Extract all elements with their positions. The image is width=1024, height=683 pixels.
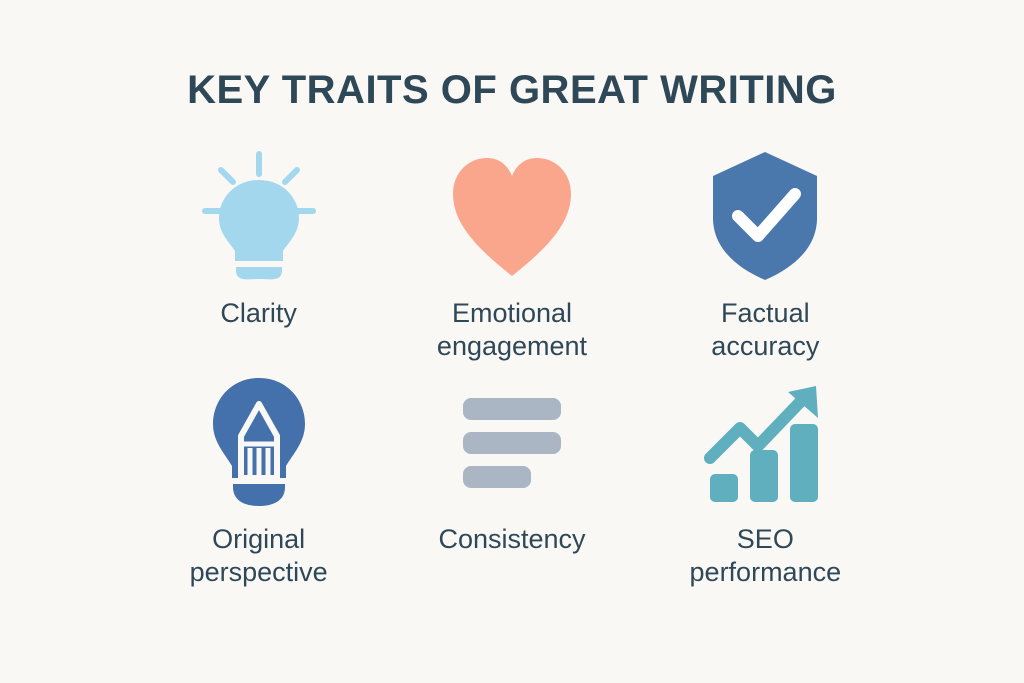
trait-label: Clarity [220,297,297,330]
text-lines-icon [457,374,567,509]
trait-label-line-1: Emotional [452,298,572,328]
trait-item-consistency: Consistency [385,374,638,600]
lightbulb-pencil-icon [199,374,319,509]
lightbulb-icon [199,148,319,283]
page-title: KEY TRAITS OF GREAT WRITING [187,68,837,112]
trait-label: Consistency [438,523,585,556]
trait-label-line-2: accuracy [711,331,819,361]
trait-label: Original perspective [190,523,328,589]
trait-label-line-1: Factual [721,298,810,328]
infographic-poster: KEY TRAITS OF GREAT WRITING Clarity [0,0,1024,683]
trait-item-factual-accuracy: Factual accuracy [639,148,892,374]
trait-label-line-1: Original [212,524,305,554]
heart-icon [447,148,577,283]
trait-label-line-2: performance [690,557,842,587]
trait-label-line-2: engagement [437,331,587,361]
trait-label: Emotional engagement [437,297,587,363]
trait-label: Factual accuracy [711,297,819,363]
trait-item-seo-performance: SEO performance [639,374,892,600]
growth-chart-icon [700,374,830,509]
shield-check-icon [705,148,825,283]
trait-label-line-2: perspective [190,557,328,587]
trait-item-original-perspective: Original perspective [132,374,385,600]
trait-item-emotional-engagement: Emotional engagement [385,148,638,374]
trait-item-clarity: Clarity [132,148,385,374]
traits-grid: Clarity Emotional engagement [132,148,892,600]
trait-label: SEO performance [690,523,842,589]
trait-label-line-1: SEO [737,524,794,554]
